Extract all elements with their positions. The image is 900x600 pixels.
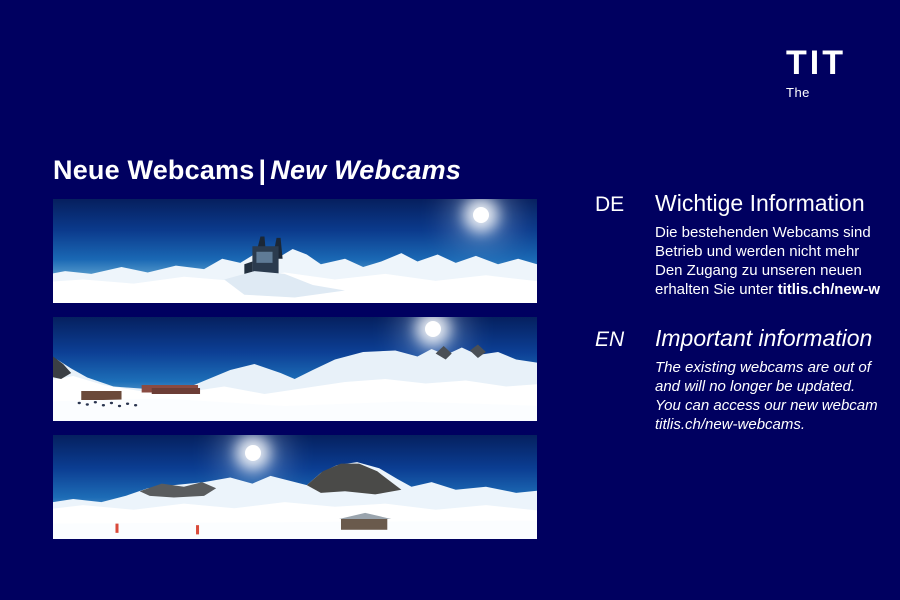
mountain-silhouette: [53, 459, 537, 539]
panorama-image-2: [53, 317, 537, 421]
panorama-image-3: [53, 435, 537, 539]
en-url[interactable]: titlis.ch/new-webcams.: [655, 415, 900, 434]
en-line-1: The existing webcams are out of: [655, 358, 900, 377]
mountain-silhouette: [53, 231, 537, 303]
de-line-4: erhalten Sie unter titlis.ch/new-w: [655, 280, 900, 299]
logo-tagline: The: [786, 85, 900, 100]
de-line-1: Die bestehenden Webcams sind: [655, 223, 900, 242]
sun-icon: [473, 207, 489, 223]
en-heading-row: EN Important information: [595, 325, 900, 352]
de-line-3: Den Zugang zu unseren neuen: [655, 261, 900, 280]
page-title-separator: |: [255, 155, 271, 185]
en-line-2: and will no longer be updated.: [655, 377, 900, 396]
slide-canvas: TIT The Neue Webcams|New Webcams: [0, 0, 900, 600]
panorama-gallery: [53, 199, 537, 553]
page-title: Neue Webcams|New Webcams: [53, 155, 461, 186]
panorama-image-1: [53, 199, 537, 303]
logo-wordmark: TIT: [786, 46, 900, 80]
sun-icon: [425, 321, 441, 337]
de-heading: Wichtige Information: [655, 190, 865, 217]
language-label-en: EN: [595, 328, 655, 352]
en-heading: Important information: [655, 325, 872, 352]
en-body: The existing webcams are out of and will…: [655, 358, 900, 434]
de-line-4-text: erhalten Sie unter: [655, 281, 778, 298]
de-url[interactable]: titlis.ch/new-w: [778, 281, 881, 298]
language-label-de: DE: [595, 193, 655, 217]
page-title-english: New Webcams: [270, 155, 461, 185]
page-title-german: Neue Webcams: [53, 155, 255, 185]
info-block-de: DE Wichtige Information Die bestehenden …: [595, 190, 900, 299]
de-line-2: Betrieb und werden nicht mehr: [655, 242, 900, 261]
information-panel: DE Wichtige Information Die bestehenden …: [595, 190, 900, 460]
info-block-en: EN Important information The existing we…: [595, 325, 900, 434]
de-heading-row: DE Wichtige Information: [595, 190, 900, 217]
en-line-3: You can access our new webcam: [655, 396, 900, 415]
titlis-logo: TIT The: [786, 46, 900, 100]
mountain-silhouette: [53, 343, 537, 421]
de-body: Die bestehenden Webcams sind Betrieb und…: [655, 223, 900, 299]
